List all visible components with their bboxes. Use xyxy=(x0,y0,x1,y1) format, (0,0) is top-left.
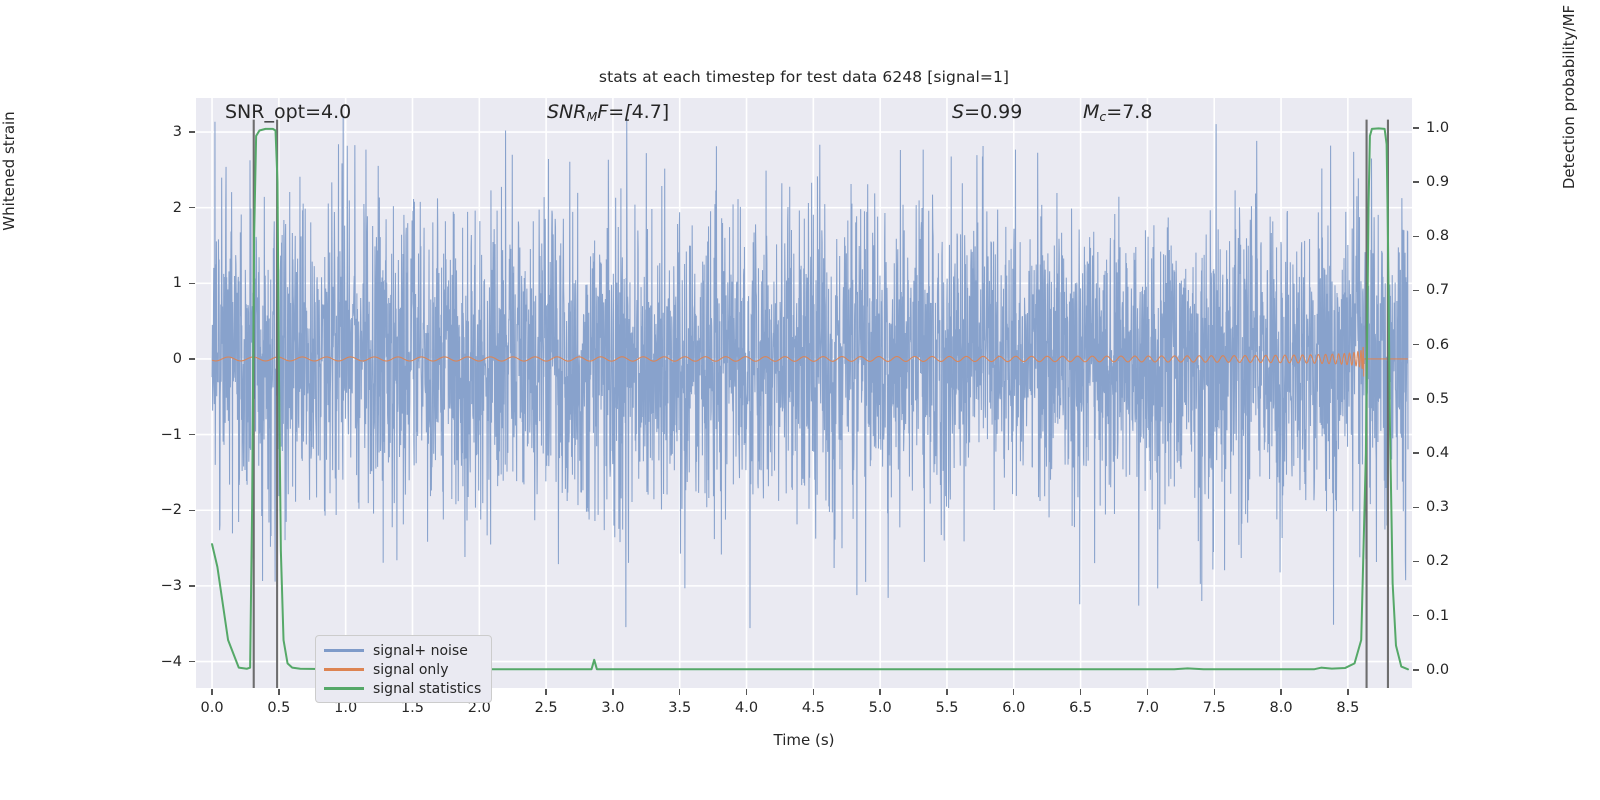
x-tick-label: 0.5 xyxy=(267,700,290,716)
x-tick-mark xyxy=(211,689,212,695)
x-tick-label: 6.5 xyxy=(1069,700,1092,716)
x-tick-label: 8.5 xyxy=(1336,700,1359,716)
x-tick-mark xyxy=(946,689,947,695)
y-tick-mark-right xyxy=(1413,452,1419,453)
x-tick-label: 2.5 xyxy=(535,700,558,716)
y-tick-label-right: 0.9 xyxy=(1426,174,1466,190)
chart-title: stats at each timestep for test data 624… xyxy=(196,68,1412,86)
y-tick-label-right: 0.6 xyxy=(1426,337,1466,353)
y-tick-mark-right xyxy=(1413,344,1419,345)
y-tick-label-left: 3 xyxy=(148,124,182,140)
y-tick-label-left: −3 xyxy=(148,578,182,594)
x-tick-mark xyxy=(813,689,814,695)
y-tick-mark-left xyxy=(189,585,195,586)
legend-label: signal+ noise xyxy=(373,643,468,659)
y-tick-mark-right xyxy=(1413,290,1419,291)
x-tick-label: 5.5 xyxy=(935,700,958,716)
y-tick-mark-right xyxy=(1413,236,1419,237)
x-tick-mark xyxy=(278,689,279,695)
annotation-chirp-mass: Mc=7.8 xyxy=(1083,103,1152,123)
y-tick-label-left: 1 xyxy=(148,275,182,291)
y-tick-label-right: 0.3 xyxy=(1426,499,1466,515)
x-axis-label: Time (s) xyxy=(196,731,1412,749)
y-tick-label-right: 0.8 xyxy=(1426,228,1466,244)
y-tick-mark-right xyxy=(1413,507,1419,508)
y-tick-mark-left xyxy=(189,434,195,435)
x-tick-mark xyxy=(1080,689,1081,695)
x-tick-mark xyxy=(1214,689,1215,695)
y-tick-mark-left xyxy=(189,510,195,511)
x-tick-label: 5.0 xyxy=(869,700,892,716)
y-tick-label-right: 0.7 xyxy=(1426,282,1466,298)
y-tick-mark-left xyxy=(189,283,195,284)
y-tick-mark-right xyxy=(1413,398,1419,399)
x-tick-label: 6.0 xyxy=(1002,700,1025,716)
y-tick-label-left: 2 xyxy=(148,200,182,216)
y-tick-label-left: −4 xyxy=(148,654,182,670)
y-tick-mark-right xyxy=(1413,669,1419,670)
y-tick-mark-left xyxy=(189,358,195,359)
y-tick-mark-right xyxy=(1413,615,1419,616)
x-tick-mark xyxy=(1347,689,1348,695)
x-tick-label: 4.0 xyxy=(735,700,758,716)
y-tick-label-right: 0.2 xyxy=(1426,553,1466,569)
y-tick-label-left: −1 xyxy=(148,427,182,443)
x-tick-label: 7.0 xyxy=(1136,700,1159,716)
x-tick-label: 0.0 xyxy=(201,700,224,716)
x-tick-label: 3.5 xyxy=(668,700,691,716)
annotation-detection-statistic: S=0.99 xyxy=(952,103,1022,122)
x-tick-mark xyxy=(545,689,546,695)
legend-item[interactable]: signal only xyxy=(324,660,483,679)
figure-canvas: stats at each timestep for test data 624… xyxy=(0,0,1600,800)
legend-color-swatch xyxy=(324,649,364,651)
y-tick-mark-right xyxy=(1413,127,1419,128)
legend-label: signal statistics xyxy=(373,681,481,697)
x-tick-mark xyxy=(879,689,880,695)
y-tick-label-right: 0.4 xyxy=(1426,445,1466,461)
annotation-snr-opt: SNR_opt=4.0 xyxy=(225,103,351,122)
legend-color-swatch xyxy=(324,668,364,670)
y-tick-label-right: 0.0 xyxy=(1426,662,1466,678)
annotation-snr-mf: SNRMF=[4.7] xyxy=(547,103,669,123)
x-tick-label: 8.0 xyxy=(1270,700,1293,716)
x-tick-label: 7.5 xyxy=(1203,700,1226,716)
y-axis-label-right: Detection probability/MF xyxy=(1560,0,1578,247)
y-tick-label-right: 0.5 xyxy=(1426,391,1466,407)
x-tick-mark xyxy=(679,689,680,695)
plot-drawing-surface xyxy=(196,98,1412,688)
y-tick-label-right: 1.0 xyxy=(1426,120,1466,136)
x-tick-mark xyxy=(1280,689,1281,695)
y-axis-label-left: Whitened strain xyxy=(0,21,18,393)
x-tick-mark xyxy=(612,689,613,695)
x-tick-mark xyxy=(746,689,747,695)
legend-color-swatch xyxy=(324,687,364,689)
x-tick-mark xyxy=(1147,689,1148,695)
x-tick-mark xyxy=(1013,689,1014,695)
y-tick-label-left: 0 xyxy=(148,351,182,367)
legend-item[interactable]: signal+ noise xyxy=(324,641,483,660)
x-tick-label: 3.0 xyxy=(601,700,624,716)
y-tick-label-right: 0.1 xyxy=(1426,608,1466,624)
y-tick-label-left: −2 xyxy=(148,502,182,518)
y-tick-mark-left xyxy=(189,207,195,208)
y-tick-mark-left xyxy=(189,661,195,662)
plot-axes-area[interactable] xyxy=(196,98,1412,688)
x-tick-label: 4.5 xyxy=(802,700,825,716)
chart-legend[interactable]: signal+ noisesignal onlysignal statistic… xyxy=(315,635,492,703)
legend-item[interactable]: signal statistics xyxy=(324,679,483,698)
y-tick-mark-right xyxy=(1413,561,1419,562)
series-signal-plus-noise xyxy=(212,116,1408,628)
y-tick-mark-right xyxy=(1413,181,1419,182)
y-tick-mark-left xyxy=(189,131,195,132)
legend-label: signal only xyxy=(373,662,448,678)
